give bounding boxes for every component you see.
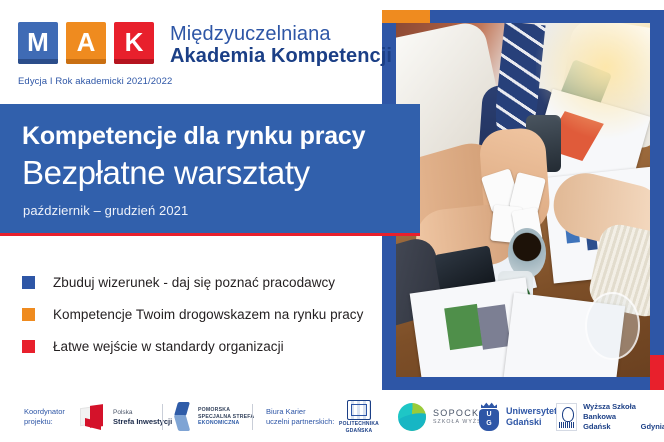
photo-panel (382, 0, 664, 390)
politechnika-line2: GDAŃSKA (346, 428, 373, 434)
bullet-text: Kompetencje Twoim drogowskazem na rynku … (53, 307, 363, 322)
bullet-text: Zbuduj wizerunek - daj się poznać pracod… (53, 275, 335, 290)
logo-tile-a: A (66, 22, 106, 64)
bullet-square-icon (22, 340, 35, 353)
uniwersytet-line2: Gdański (506, 417, 557, 428)
logo-polska-strefa-inwestycji: Polska Strefa Inwestycji (80, 392, 172, 442)
sopocka-mark-icon (398, 403, 426, 431)
footer-divider (162, 404, 163, 430)
subheadline-text: Bezpłatne warsztaty (22, 154, 310, 192)
bullet-square-icon (22, 308, 35, 321)
uniwersytet-line1: Uniwersytet (506, 406, 557, 417)
coordinator-label-line1: Koordynator (24, 407, 65, 417)
wsb-line1: Wyższa Szkoła Bankowa (583, 402, 664, 422)
logo-tile-k: K (114, 22, 154, 64)
accent-bar-red (650, 355, 664, 390)
bullet-text: Łatwe wejście w standardy organizacji (53, 339, 284, 354)
benefits-list: Zbuduj wizerunek - daj się poznać pracod… (22, 266, 382, 362)
logo-uniwersytet-gdanski: U G Uniwersytet Gdański (478, 392, 557, 442)
teamwork-photo (396, 23, 650, 377)
logo-pomorska-specjalna-strefa-ekonomiczna: POMORSKA SPECJALNA STREFA EKONOMICZNA (172, 392, 254, 442)
logo-wordmark: Międzyuczelniana Akademia Kompetencji (170, 22, 392, 67)
poster-canvas: M A K Międzyuczelniana Akademia Kompeten… (0, 0, 664, 442)
politechnika-line1: POLITECHNIKA (339, 421, 379, 427)
list-item: Zbuduj wizerunek - daj się poznać pracod… (22, 266, 382, 298)
logo-name-line2: Akademia Kompetencji (170, 45, 392, 67)
ug-mark-bottom: G (479, 420, 499, 428)
photo-water-glass (585, 292, 640, 360)
mak-logo: M A K Międzyuczelniana Akademia Kompeten… (18, 22, 392, 67)
psse-mark-icon (172, 402, 192, 432)
partners-label-line1: Biura Karier (266, 407, 334, 417)
logo-letter-m: M (27, 29, 49, 55)
polska-strefa-line2: Strefa Inwestycji (113, 417, 172, 426)
list-item: Łatwe wejście w standardy organizacji (22, 330, 382, 362)
logo-letter-a: A (77, 29, 96, 55)
partners-label: Biura Karier uczelni partnerskich: (266, 392, 334, 442)
logo-sopocka-szkola-wyzsza: SOPOCKA SZKOŁA WYŻSZA (398, 392, 491, 442)
date-range-text: październik – grudzień 2021 (23, 203, 188, 218)
polska-strefa-mark-icon (80, 405, 106, 429)
footer-partners: Koordynator projektu: Polska Strefa Inwe… (0, 392, 664, 442)
wsb-city-gdynia: Gdynia (641, 422, 664, 432)
banner-red-underline (0, 233, 420, 236)
accent-bar-orange (382, 10, 430, 23)
politechnika-crest-icon: POLITECHNIKA GDAŃSKA (344, 400, 374, 434)
headline-banner: Kompetencje dla rynku pracy Bezpłatne wa… (0, 104, 420, 233)
photo-sun-glare (536, 23, 650, 147)
logo-name-line1: Międzyuczelniana (170, 23, 392, 45)
uniwersytet-gdanski-shield-icon: U G (478, 402, 500, 432)
wsb-crest-icon (556, 403, 577, 431)
coordinator-label: Koordynator projektu: (24, 392, 65, 442)
psse-line3: EKONOMICZNA (198, 420, 254, 426)
footer-divider (252, 404, 253, 430)
edition-label: Edycja I Rok akademicki 2021/2022 (18, 76, 172, 87)
partners-label-line2: uczelni partnerskich: (266, 417, 334, 427)
photo-chart-grey (477, 304, 511, 350)
coordinator-label-line2: projektu: (24, 417, 65, 427)
polska-strefa-line1: Polska (113, 409, 172, 417)
bullet-square-icon (22, 276, 35, 289)
headline-text: Kompetencje dla rynku pracy (22, 122, 365, 151)
logo-letter-k: K (125, 29, 144, 55)
ug-mark-top: U (479, 411, 499, 419)
logo-politechnika-gdanska: POLITECHNIKA GDAŃSKA (344, 392, 374, 442)
list-item: Kompetencje Twoim drogowskazem na rynku … (22, 298, 382, 330)
wsb-city-gdansk: Gdańsk (583, 422, 611, 432)
logo-tile-m: M (18, 22, 58, 64)
logo-wyzsza-szkola-bankowa: Wyższa Szkoła Bankowa Gdańsk Gdynia (556, 392, 664, 442)
